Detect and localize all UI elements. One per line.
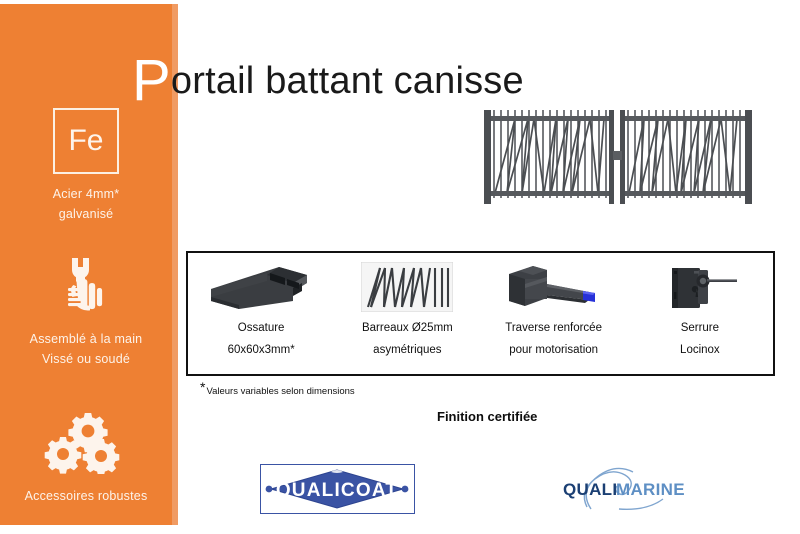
sidebar-feature-assembly: Assemblé à la main Vissé ou soudé: [0, 255, 172, 369]
qualimarine-logo-text-bold: QUALI: [563, 480, 617, 499]
sidebar-feature-assembly-line2: Vissé ou soudé: [0, 349, 172, 369]
components-panel: Ossature 60x60x3mm*: [186, 251, 775, 376]
component-serrure-line1: Serrure: [681, 322, 719, 334]
qualimarine-logo-text-light: MARINE: [616, 480, 685, 499]
component-ossature-line1: Ossature: [238, 322, 285, 334]
component-barreaux: Barreaux Ø25mm asymétriques: [334, 253, 480, 374]
qualicoat-logo: QUALICOAT: [260, 464, 415, 514]
fe-element-box-icon: Fe: [53, 108, 119, 174]
component-barreaux-line2: asymétriques: [373, 344, 441, 356]
fe-symbol-label: Fe: [68, 126, 103, 156]
component-serrure-line2: Locinox: [680, 344, 720, 356]
finish-certified-label: Finition certifiée: [437, 409, 537, 424]
steel-frame-profile-photo: [207, 260, 315, 314]
footnote-text: Valeurs variables selon dimensions: [206, 386, 354, 397]
sidebar-feature-assembly-line1: Assemblé à la main: [0, 329, 172, 349]
component-serrure: Serrure Locinox: [627, 253, 773, 374]
component-barreaux-line1: Barreaux Ø25mm: [362, 322, 453, 334]
page-title-dropcap: P: [132, 48, 171, 113]
component-ossature-line2: 60x60x3mm*: [228, 344, 295, 356]
hand-wrench-icon: [0, 255, 172, 317]
sidebar-feature-accessories: Accessoires robustes: [0, 412, 172, 506]
sidebar-feature-steel: Fe Acier 4mm* galvanisé: [0, 108, 172, 224]
reinforced-crossbar-photo: [499, 260, 609, 314]
component-ossature: Ossature 60x60x3mm*: [188, 253, 334, 374]
locinox-lock-photo: [654, 260, 746, 314]
qualicoat-logo-text: QUALICOAT: [276, 480, 398, 501]
page-title: Portail battant canisse: [132, 52, 524, 110]
swing-gate-illustration: [468, 96, 778, 216]
sidebar-feature-accessories-line1: Accessoires robustes: [0, 486, 172, 506]
gears-icon: [0, 412, 172, 474]
component-traverse-line2: pour motorisation: [509, 344, 598, 356]
component-traverse: Traverse renforcée pour motorisation: [481, 253, 627, 374]
component-traverse-line1: Traverse renforcée: [505, 322, 602, 334]
asymmetric-bars-photo: [361, 260, 453, 314]
footnote: *Valeurs variables selon dimensions: [200, 379, 355, 397]
sidebar-feature-steel-line2: galvanisé: [0, 204, 172, 224]
qualimarine-logo: QUALI MARINE: [557, 463, 712, 515]
footnote-star: *: [200, 379, 205, 395]
sidebar-feature-steel-line1: Acier 4mm*: [0, 184, 172, 204]
